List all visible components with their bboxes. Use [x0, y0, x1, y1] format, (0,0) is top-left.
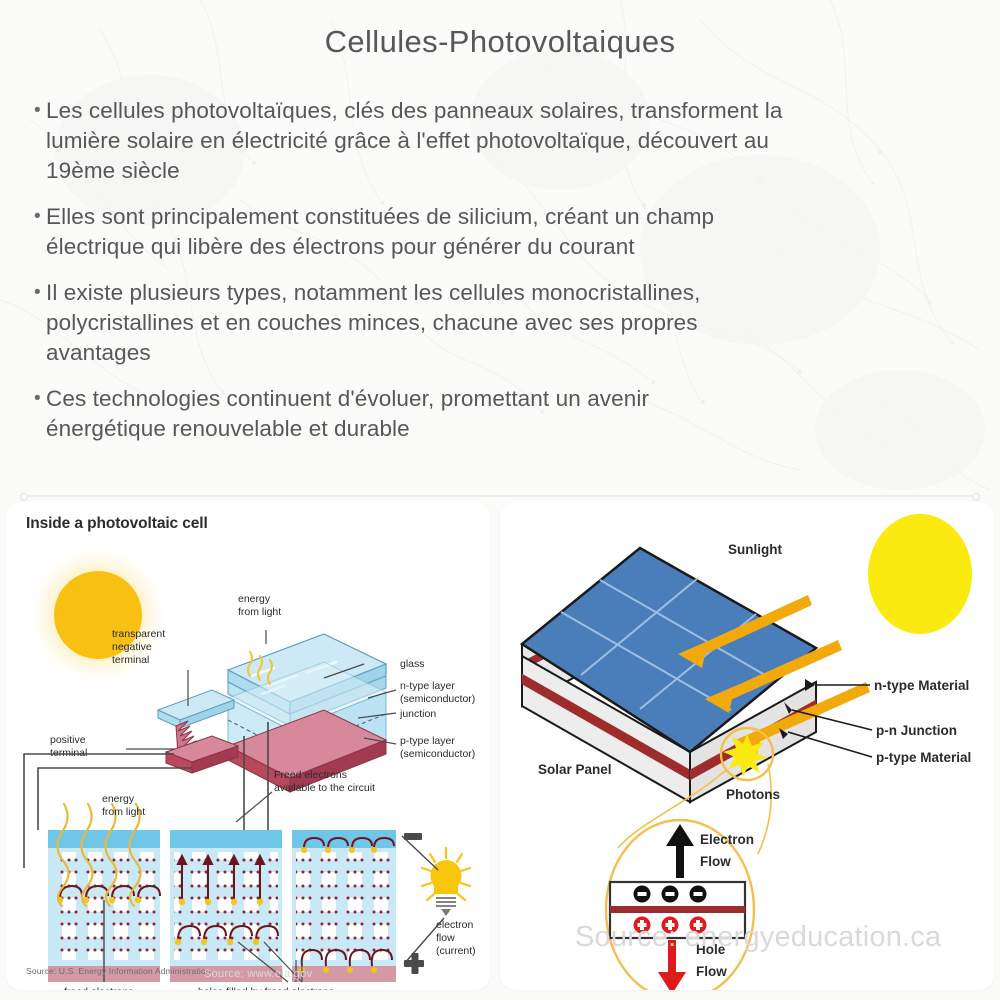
label-electron-flow-line1: Electron: [700, 832, 754, 847]
bullet-marker-icon: •: [34, 202, 46, 232]
energyeducation-watermark: Source: energyeducation.ca: [575, 921, 941, 954]
label-solar-panel: Solar Panel: [538, 762, 612, 777]
label-energy-from-light2-line1: energy: [102, 793, 135, 805]
label-electron-flow-line1: electron: [436, 919, 474, 931]
label-positive-terminal-line1: positive: [50, 734, 86, 746]
label-holes-filled: holes filled by freed electrons: [198, 986, 334, 990]
sun-icon: [868, 514, 972, 634]
cell-panel-2: [170, 830, 282, 982]
bullet-marker-icon: •: [34, 278, 46, 308]
electron-hole-flow-detail: Electron Flow: [606, 820, 754, 990]
label-energy-from-light-line2: from light: [238, 606, 281, 618]
label-transparent-neg-line2: negative: [112, 641, 152, 653]
bullet-text: Elles sont principalement constituées de…: [46, 202, 714, 262]
minus-sign-icon: [404, 833, 422, 840]
bullet-text: Il existe plusieurs types, notamment les…: [46, 278, 700, 368]
label-n-type-line1: n-type layer: [400, 680, 455, 692]
bullet-text: Ces technologies continuent d'évoluer, p…: [46, 384, 649, 444]
left-diagram-card[interactable]: Inside a photovoltaic cell: [6, 502, 490, 990]
label-photons: Photons: [726, 787, 780, 802]
label-electron-flow-line2: Flow: [700, 854, 731, 869]
label-electron-flow-line2: flow: [436, 932, 455, 944]
label-freed-electrons-circuit-line2: available to the circuit: [274, 782, 375, 794]
label-energy-from-light-line1: energy: [238, 593, 271, 605]
label-p-type-material: p-type Material: [876, 750, 971, 765]
label-sunlight: Sunlight: [728, 542, 782, 557]
list-item: • Les cellules photovoltaïques, clés des…: [34, 96, 968, 186]
label-n-type-material: n-type Material: [874, 678, 969, 693]
label-pn-junction: p-n Junction: [876, 723, 957, 738]
eia-watermark: Source: www.eia.gov: [204, 968, 312, 980]
inside-photovoltaic-cell-diagram: energy from light transparent negative t…: [6, 530, 490, 990]
left-card-source: Source: U.S. Energy Information Administ…: [26, 966, 211, 976]
solar-panel-photons-diagram: Sunlight Solar Panel n-type Material p-n…: [500, 502, 994, 990]
label-p-type-line2: (semiconductor): [400, 748, 475, 760]
list-item: • Ces technologies continuent d'évoluer,…: [34, 384, 968, 444]
label-energy-from-light2-line2: from light: [102, 806, 145, 818]
bullet-marker-icon: •: [34, 384, 46, 414]
label-freed-electrons-circuit-line1: Freed electrons: [274, 769, 347, 781]
page-title: Cellules-Photovoltaiques: [0, 24, 1000, 60]
list-item: • Elles sont principalement constituées …: [34, 202, 968, 262]
cell-panel-3: [292, 830, 396, 982]
label-hole-flow-line2: Flow: [696, 964, 727, 979]
bullet-marker-icon: •: [34, 96, 46, 126]
light-bulb-icon: [422, 848, 470, 916]
label-positive-terminal-line2: terminal: [50, 747, 87, 759]
exploded-cell-stack: [158, 634, 386, 792]
label-p-type-line1: p-type layer: [400, 735, 455, 747]
list-item: • Il existe plusieurs types, notamment l…: [34, 278, 968, 368]
label-freed-electrons: freed electrons: [64, 986, 133, 990]
label-electron-flow-line3: (current): [436, 945, 476, 957]
label-n-type-line2: (semiconductor): [400, 693, 475, 705]
section-divider: [24, 495, 976, 497]
bullet-list: • Les cellules photovoltaïques, clés des…: [34, 96, 968, 460]
label-junction: junction: [399, 708, 436, 720]
plus-sign-icon: [404, 953, 424, 974]
electron-symbols: [634, 886, 707, 903]
right-diagram-card[interactable]: Sunlight Solar Panel n-type Material p-n…: [500, 502, 994, 990]
bullet-text: Les cellules photovoltaïques, clés des p…: [46, 96, 782, 186]
label-glass: glass: [400, 658, 425, 670]
cell-panel-1: [48, 804, 160, 982]
label-transparent-neg-line3: terminal: [112, 654, 149, 666]
label-transparent-neg-line1: transparent: [112, 628, 165, 640]
